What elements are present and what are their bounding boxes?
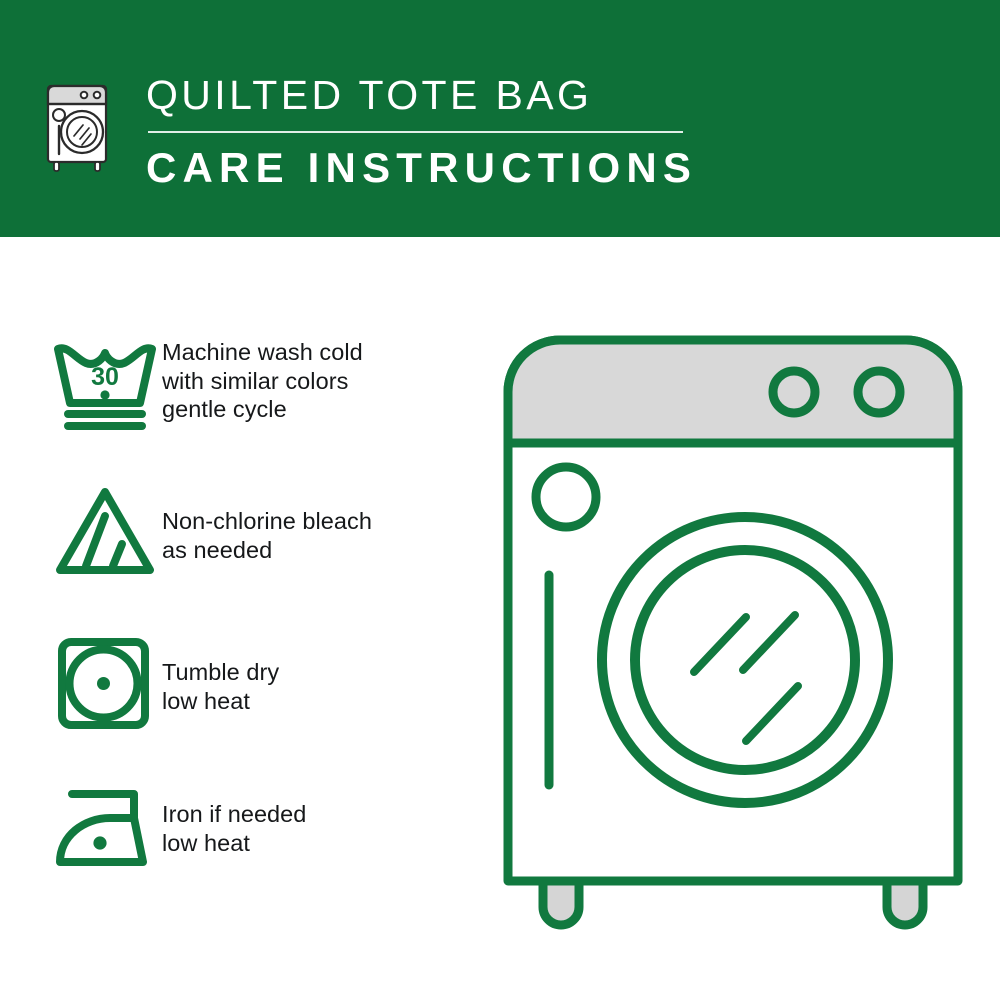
caption-line: Machine wash cold [162,338,480,367]
care-caption-iron: Iron if needed low heat [162,780,480,857]
bleach-triangle-symbol [50,482,162,578]
care-row-iron: Iron if needed low heat [50,780,480,876]
caption-line: Iron if needed [162,800,480,829]
washing-machine-illustration [498,330,968,930]
care-row-bleach: Non-chlorine bleach as needed [50,482,480,578]
caption-line: as needed [162,536,480,565]
care-row-wash: 30 Machine wash cold with similar colors… [50,337,480,433]
caption-line: with similar colors [162,367,480,396]
care-caption-tumble-dry: Tumble dry low heat [162,635,480,715]
page-title-care: CARE INSTRUCTIONS [146,143,786,193]
washer-knob [858,371,900,413]
care-row-tumble-dry: Tumble dry low heat [50,635,480,731]
caption-line: Tumble dry [162,658,480,687]
washer-indicator-light [536,467,596,527]
washer-knob [773,371,815,413]
washing-machine-icon [44,68,116,173]
care-instruction-list: 30 Machine wash cold with similar colors… [0,237,490,1000]
iron-symbol [50,780,162,876]
washer-leg [887,881,923,925]
care-caption-bleach: Non-chlorine bleach as needed [162,482,480,564]
caption-line: Non-chlorine bleach [162,507,480,536]
care-caption-wash: Machine wash cold with similar colors ge… [162,337,480,424]
care-instructions-infographic: QUILTED TOTE BAG CARE INSTRUCTIONS 30 [0,0,1000,1000]
page-title-product: QUILTED TOTE BAG [146,70,786,120]
caption-line: low heat [162,687,480,716]
header-banner: QUILTED TOTE BAG CARE INSTRUCTIONS [0,0,1000,237]
header-title-group: QUILTED TOTE BAG CARE INSTRUCTIONS [146,70,786,193]
wash-temperature-label: 30 [91,363,119,391]
tumble-dry-symbol [50,635,162,731]
caption-line: low heat [162,829,480,858]
caption-line: gentle cycle [162,395,480,424]
title-divider [148,131,683,133]
washer-leg [543,881,579,925]
wash-tub-symbol: 30 [50,337,162,433]
